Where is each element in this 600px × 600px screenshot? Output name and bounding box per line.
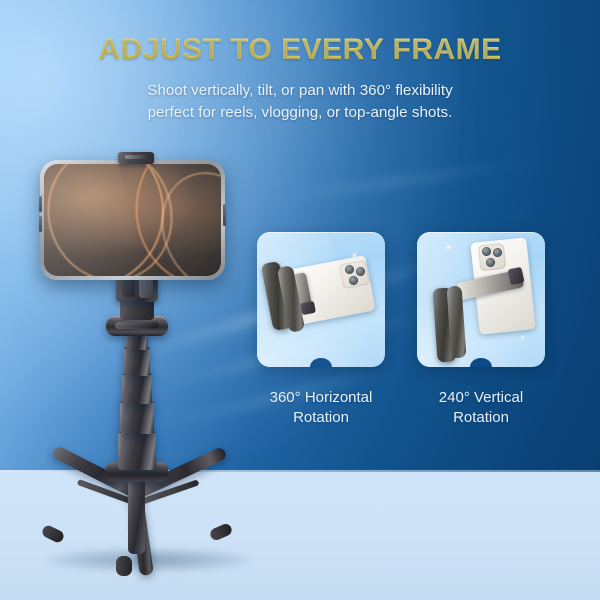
tripod-foot-left — [40, 524, 65, 544]
mini-camera-lens — [493, 248, 502, 257]
caption-line-2: Rotation — [397, 408, 565, 428]
tripod-foot-right — [209, 522, 234, 542]
caption-horizontal-rotation: 360° Horizontal Rotation — [237, 388, 405, 427]
caption-line-2: Rotation — [237, 408, 405, 428]
pole-segment-2 — [124, 346, 150, 376]
volume-down-button — [39, 216, 42, 232]
panel-vertical-rotation — [417, 232, 545, 367]
phone-screen — [44, 164, 221, 276]
phone-clamp-upper — [118, 152, 154, 164]
mini-camera-lens — [349, 276, 358, 285]
mini-camera-lens — [482, 247, 491, 256]
caption-vertical-rotation: 240° Vertical Rotation — [397, 388, 565, 427]
volume-up-button — [39, 196, 42, 212]
sparkle-icon — [521, 336, 524, 339]
pole-segment-5 — [118, 430, 156, 470]
mini-camera-lens — [486, 258, 495, 267]
panel-horizontal-rotation — [257, 232, 385, 367]
mini-joint — [507, 267, 524, 286]
tripod-center-column — [128, 472, 145, 554]
caption-line-1: 360° Horizontal — [237, 388, 405, 408]
mini-camera-lens — [356, 267, 365, 276]
mini-camera-lens — [345, 265, 354, 274]
caption-line-1: 240° Vertical — [397, 388, 565, 408]
pole-segment-4 — [120, 400, 154, 434]
mini-camera-module — [478, 243, 507, 272]
phone — [40, 160, 225, 280]
pole-segment-3 — [122, 372, 152, 404]
product-banner: ADJUST TO EVERY FRAME Shoot vertically, … — [0, 0, 600, 600]
tripod-foot-front — [116, 556, 132, 576]
sparkle-icon — [447, 246, 450, 249]
power-button — [223, 204, 226, 226]
mini-camera-module — [339, 260, 370, 290]
